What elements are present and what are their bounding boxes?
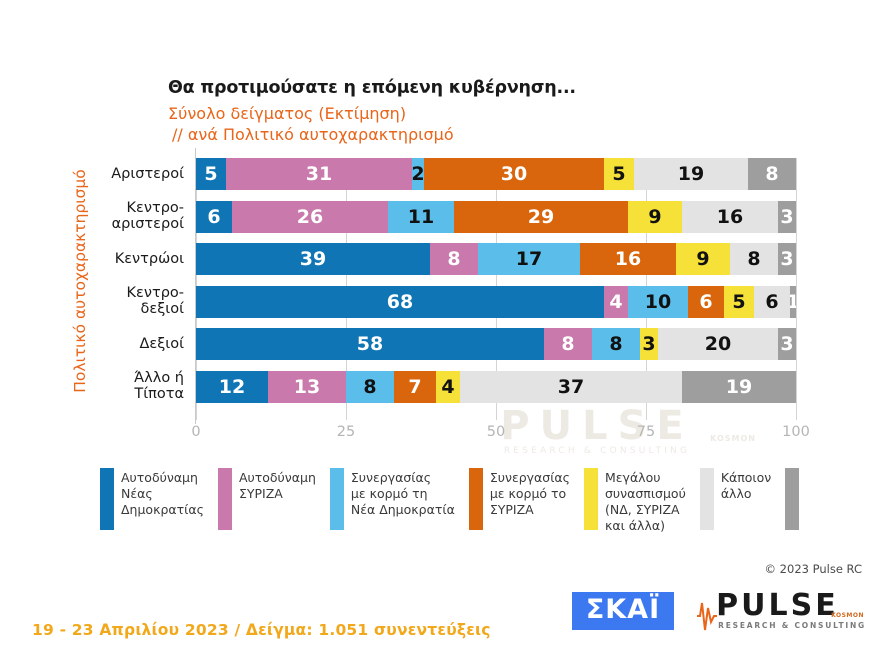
bar-segment: 19 xyxy=(682,371,796,403)
chart-title: Θα προτιμούσατε η επόμενη κυβέρνηση... xyxy=(168,78,728,100)
legend-label: Συνεργασίας με κορμό το ΣΥΡΙΖΑ xyxy=(490,470,570,518)
x-tick-label: 50 xyxy=(487,424,505,440)
bar-segment-value: 12 xyxy=(219,376,245,398)
watermark-tagline: RESEARCH & CONSULTING xyxy=(432,446,762,456)
bar-row: 62611299163 xyxy=(196,201,796,233)
bar-segment-value: 3 xyxy=(780,333,793,355)
bar-segment: 7 xyxy=(394,371,436,403)
legend-swatch xyxy=(100,468,114,530)
y-tick-label: Αριστεροί xyxy=(4,166,184,183)
bar-segment-value: 16 xyxy=(615,248,641,270)
bar-segment-value: 19 xyxy=(726,376,752,398)
legend-item[interactable]: Αυτοδύναμη Νέας Δημοκρατίας xyxy=(100,468,204,530)
legend-item[interactable]: Συνεργασίας με κορμό τη Νέα Δημοκρατία xyxy=(330,468,455,530)
bar-segment-value: 16 xyxy=(717,206,743,228)
bar-segment: 5 xyxy=(196,158,226,190)
bar-segment-value: 5 xyxy=(612,163,625,185)
bar-segment-value: 9 xyxy=(648,206,661,228)
bar-segment: 8 xyxy=(592,328,640,360)
bar-segment: 58 xyxy=(196,328,544,360)
chart-plot-area: PULSE KOSMON RESEARCH & CONSULTING 53123… xyxy=(196,158,796,420)
watermark-word: PULSE xyxy=(432,406,762,446)
pulse-watermark: PULSE KOSMON RESEARCH & CONSULTING xyxy=(432,406,762,456)
bar-segment-value: 1 xyxy=(790,291,796,313)
legend-label: Μεγάλου συνασπισμού (ΝΔ, ΣΥΡΙΖΑ και άλλα… xyxy=(605,470,686,534)
bar-segment: 6 xyxy=(688,286,724,318)
chart-legend: Αυτοδύναμη Νέας ΔημοκρατίαςΑυτοδύναμη ΣΥ… xyxy=(100,468,813,534)
y-tick-label: Κεντρώοι xyxy=(4,251,184,268)
bar-segment-value: 8 xyxy=(747,248,760,270)
bar-row: 12138743719 xyxy=(196,371,796,403)
y-tick-label-line: Κεντρο- xyxy=(4,200,184,217)
legend-label: Συνεργασίας με κορμό τη Νέα Δημοκρατία xyxy=(351,470,455,518)
bar-segment-value: 11 xyxy=(408,206,434,228)
bar-segment-value: 5 xyxy=(732,291,745,313)
bar-segment: 6 xyxy=(196,201,232,233)
bar-segment-value: 8 xyxy=(447,248,460,270)
title-block: Θα προτιμούσατε η επόμενη κυβέρνηση... Σ… xyxy=(168,78,728,145)
bar-segment: 37 xyxy=(460,371,682,403)
legend-label: Αυτοδύναμη Νέας Δημοκρατίας xyxy=(121,470,204,518)
bar-segment: 39 xyxy=(196,243,430,275)
y-tick-label: Άλλο ήΤίποτα xyxy=(4,370,184,403)
chart-subtitle-secondary: // ανά Πολιτικό αυτοχαρακτηρισμό xyxy=(168,125,728,146)
x-tick-label: 75 xyxy=(637,424,655,440)
gridline xyxy=(796,158,797,420)
watermark-kosmon: KOSMON xyxy=(432,434,762,443)
bar-segment-value: 8 xyxy=(765,163,778,185)
bar-segment-value: 20 xyxy=(705,333,731,355)
bar-segment: 4 xyxy=(604,286,628,318)
y-tick-label-line: Τίποτα xyxy=(4,386,184,403)
bar-segment-value: 10 xyxy=(645,291,671,313)
bar-segment: 68 xyxy=(196,286,604,318)
bar-segment-value: 8 xyxy=(609,333,622,355)
bar-segment-value: 7 xyxy=(408,376,421,398)
bar-segment-value: 30 xyxy=(501,163,527,185)
bar-row: 5312305198 xyxy=(196,158,796,190)
legend-swatch xyxy=(218,468,232,530)
y-tick-label-line: Κεντρο- xyxy=(4,285,184,302)
bar-segment: 13 xyxy=(268,371,346,403)
bar-segment-value: 68 xyxy=(387,291,413,313)
bar-segment: 8 xyxy=(430,243,478,275)
y-tick-label-line: Κεντρώοι xyxy=(4,251,184,268)
bar-segment-value: 9 xyxy=(696,248,709,270)
bar-segment: 3 xyxy=(778,328,796,360)
bar-segment-value: 2 xyxy=(412,163,424,185)
pulse-wave-icon xyxy=(696,594,718,638)
bar-segment: 4 xyxy=(436,371,460,403)
bar-segment-value: 6 xyxy=(699,291,712,313)
y-tick-label-line: αριστεροί xyxy=(4,216,184,233)
bar-segment-value: 31 xyxy=(306,163,332,185)
legend-item[interactable]: Κάποιον άλλο xyxy=(700,468,771,530)
bar-segment: 8 xyxy=(730,243,778,275)
x-tick-label: 100 xyxy=(782,424,810,440)
bar-segment-value: 3 xyxy=(780,248,793,270)
bar-segment-value: 17 xyxy=(516,248,542,270)
bar-segment-value: 4 xyxy=(441,376,454,398)
bar-segment: 8 xyxy=(748,158,796,190)
bar-segment-value: 26 xyxy=(297,206,323,228)
legend-item[interactable] xyxy=(785,468,799,530)
bar-segment: 16 xyxy=(580,243,676,275)
legend-item[interactable]: Αυτοδύναμη ΣΥΡΙΖΑ xyxy=(218,468,316,530)
bar-segment: 11 xyxy=(388,201,454,233)
legend-swatch xyxy=(469,468,483,530)
chart-subtitle-primary: Σύνολο δείγματος (Εκτίμηση) xyxy=(168,104,728,125)
bar-segment-value: 58 xyxy=(357,333,383,355)
legend-swatch xyxy=(700,468,714,530)
y-tick-label-line: Αριστεροί xyxy=(4,166,184,183)
y-tick-label-line: δεξιοί xyxy=(4,301,184,318)
bar-segment: 16 xyxy=(682,201,778,233)
y-tick-label-line: Άλλο ή xyxy=(4,370,184,387)
bar-segment: 26 xyxy=(232,201,388,233)
bar-segment: 3 xyxy=(778,243,796,275)
bar-segment: 30 xyxy=(424,158,604,190)
bar-segment-value: 29 xyxy=(528,206,554,228)
pulse-logo: PULSE KOSMON RESEARCH & CONSULTING xyxy=(696,592,866,630)
legend-swatch xyxy=(330,468,344,530)
legend-item[interactable]: Συνεργασίας με κορμό το ΣΥΡΙΖΑ xyxy=(469,468,570,530)
bar-segment: 9 xyxy=(676,243,730,275)
bar-segment: 9 xyxy=(628,201,682,233)
bar-row: 684106561 xyxy=(196,286,796,318)
bar-segment-value: 5 xyxy=(204,163,217,185)
bar-segment: 3 xyxy=(640,328,658,360)
bar-segment: 8 xyxy=(544,328,592,360)
bar-segment: 31 xyxy=(226,158,412,190)
bar-segment-value: 3 xyxy=(642,333,655,355)
y-tick-label: Δεξιοί xyxy=(4,336,184,353)
bar-segment: 19 xyxy=(634,158,748,190)
footer-logos: ΣΚΑΪ PULSE KOSMON RESEARCH & CONSULTING xyxy=(572,592,866,630)
bar-segment: 6 xyxy=(754,286,790,318)
bar-segment: 20 xyxy=(658,328,778,360)
skai-logo: ΣΚΑΪ xyxy=(572,592,674,630)
bar-segment: 29 xyxy=(454,201,628,233)
bar-segment-value: 8 xyxy=(561,333,574,355)
bar-row: 3981716983 xyxy=(196,243,796,275)
bar-segment-value: 4 xyxy=(609,291,622,313)
bar-segment: 10 xyxy=(628,286,688,318)
copyright-notice: © 2023 Pulse RC xyxy=(765,562,862,576)
bar-segment-value: 37 xyxy=(558,376,584,398)
bar-row: 58883203 xyxy=(196,328,796,360)
legend-swatch xyxy=(584,468,598,530)
bar-segment: 5 xyxy=(724,286,754,318)
bar-segment: 3 xyxy=(778,201,796,233)
bar-segment: 2 xyxy=(412,158,424,190)
bar-segment-value: 39 xyxy=(300,248,326,270)
bar-segment: 5 xyxy=(604,158,634,190)
pulse-tagline: RESEARCH & CONSULTING xyxy=(696,621,866,630)
bar-segment-value: 6 xyxy=(765,291,778,313)
y-tick-label: Κεντρο-δεξιοί xyxy=(4,285,184,318)
bar-segment: 1 xyxy=(790,286,796,318)
bar-segment-value: 13 xyxy=(294,376,320,398)
x-tick-label: 0 xyxy=(191,424,200,440)
legend-swatch xyxy=(785,468,799,530)
x-tick-label: 25 xyxy=(337,424,355,440)
legend-item[interactable]: Μεγάλου συνασπισμού (ΝΔ, ΣΥΡΙΖΑ και άλλα… xyxy=(584,468,686,534)
bar-segment-value: 8 xyxy=(363,376,376,398)
bar-segment-value: 6 xyxy=(207,206,220,228)
footer-date-sample: 19 - 23 Απριλίου 2023 / Δείγμα: 1.051 συ… xyxy=(32,621,491,639)
bar-segment: 8 xyxy=(346,371,394,403)
bar-segment: 12 xyxy=(196,371,268,403)
legend-label: Αυτοδύναμη ΣΥΡΙΖΑ xyxy=(239,470,316,502)
bar-segment-value: 19 xyxy=(678,163,704,185)
bar-segment: 17 xyxy=(478,243,580,275)
y-tick-label-line: Δεξιοί xyxy=(4,336,184,353)
bar-segment-value: 3 xyxy=(780,206,793,228)
y-tick-label: Κεντρο-αριστεροί xyxy=(4,200,184,233)
legend-label: Κάποιον άλλο xyxy=(721,470,771,502)
